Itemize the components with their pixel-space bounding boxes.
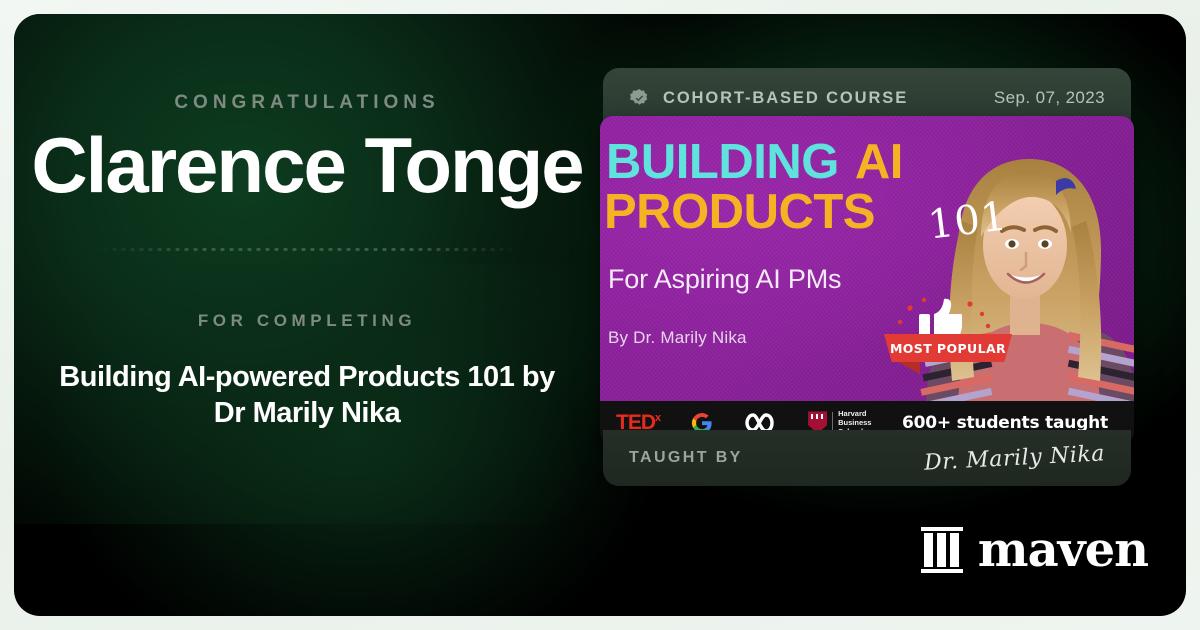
course-thumbnail[interactable]: BUILDINGAI PRODUCTS 101 For Aspiring AI …	[600, 116, 1134, 444]
thumbnail-level-101: 101	[925, 193, 1009, 248]
for-completing-label: FOR COMPLETING	[198, 311, 416, 331]
ribbon-label: MOST POPULAR	[890, 341, 1006, 356]
maven-wordmark: maven	[978, 526, 1148, 574]
thumbs-up-icon	[918, 298, 962, 340]
hbs-line-1: Harvard	[838, 409, 871, 418]
course-kind-label: COHORT-BASED COURSE	[663, 89, 908, 108]
maven-logo[interactable]: maven	[921, 526, 1148, 574]
thumbnail-word-ai: AI	[855, 135, 903, 189]
hbs-line-2: Business	[838, 418, 871, 427]
thumbnail-title-line-1: BUILDINGAI	[606, 138, 903, 187]
instructor-signature: Dr. Marily Nika	[923, 441, 1105, 475]
verified-badge-icon	[629, 88, 650, 109]
thumbnail-artwork: BUILDINGAI PRODUCTS 101 For Aspiring AI …	[600, 116, 1134, 401]
course-card[interactable]: COHORT-BASED COURSE Sep. 07, 2023 BUILDI…	[600, 68, 1134, 486]
completed-course-title: Building AI-powered Products 101 by Dr M…	[57, 359, 557, 432]
maven-pillars-icon	[921, 527, 963, 573]
most-popular-ribbon: MOST POPULAR	[884, 296, 1012, 378]
recipient-name: Clarence Tonge	[31, 128, 582, 204]
thumbnail-title-line-2: PRODUCTS	[604, 188, 875, 237]
course-card-footer: TAUGHT BY Dr. Marily Nika	[603, 430, 1131, 486]
thumbnail-subtitle: For Aspiring AI PMs	[608, 264, 841, 295]
certificate-text-column: CONGRATULATIONS Clarence Tonge FOR COMPL…	[14, 0, 600, 602]
thumbnail-byline: By Dr. Marily Nika	[608, 328, 747, 348]
dotted-divider	[92, 248, 522, 251]
thumbnail-word-building: BUILDING	[606, 135, 839, 189]
course-date: Sep. 07, 2023	[994, 88, 1105, 108]
ribbon-tail	[898, 362, 920, 374]
ribbon-band: MOST POPULAR	[884, 334, 1012, 362]
congratulations-label: CONGRATULATIONS	[174, 92, 439, 114]
taught-by-label: TAUGHT BY	[629, 449, 743, 467]
certificate-page: CONGRATULATIONS Clarence Tonge FOR COMPL…	[0, 0, 1200, 630]
